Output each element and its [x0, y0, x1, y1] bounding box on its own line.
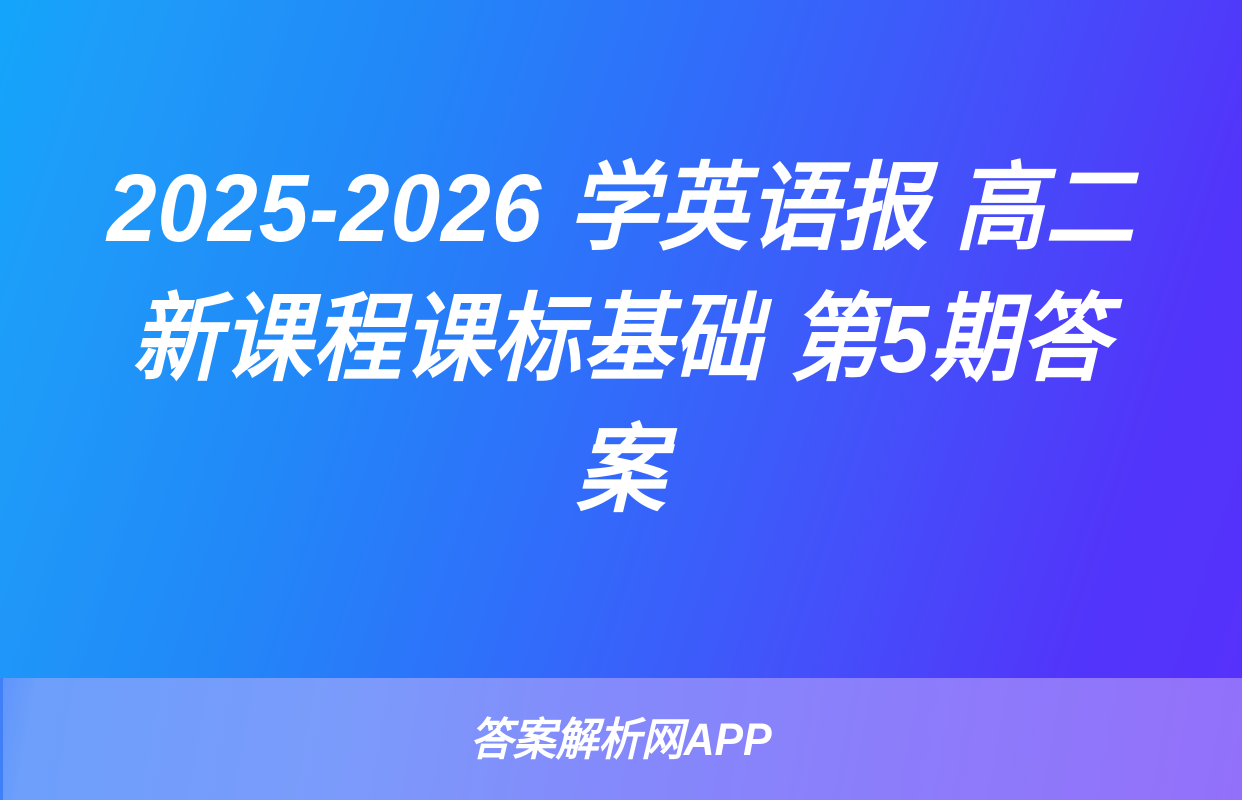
watermark-brand-label: 答案解析网APP: [470, 717, 772, 762]
title-container: 2025-2026 学英语报 高二 新课程课标基础 第5期答案: [0, 0, 1242, 678]
watermark-container: 答案解析网APP: [0, 678, 1242, 800]
page-title: 2025-2026 学英语报 高二 新课程课标基础 第5期答案: [105, 143, 1137, 536]
poster-canvas: 2025-2026 学英语报 高二 新课程课标基础 第5期答案 答案解析网APP: [0, 0, 1242, 800]
